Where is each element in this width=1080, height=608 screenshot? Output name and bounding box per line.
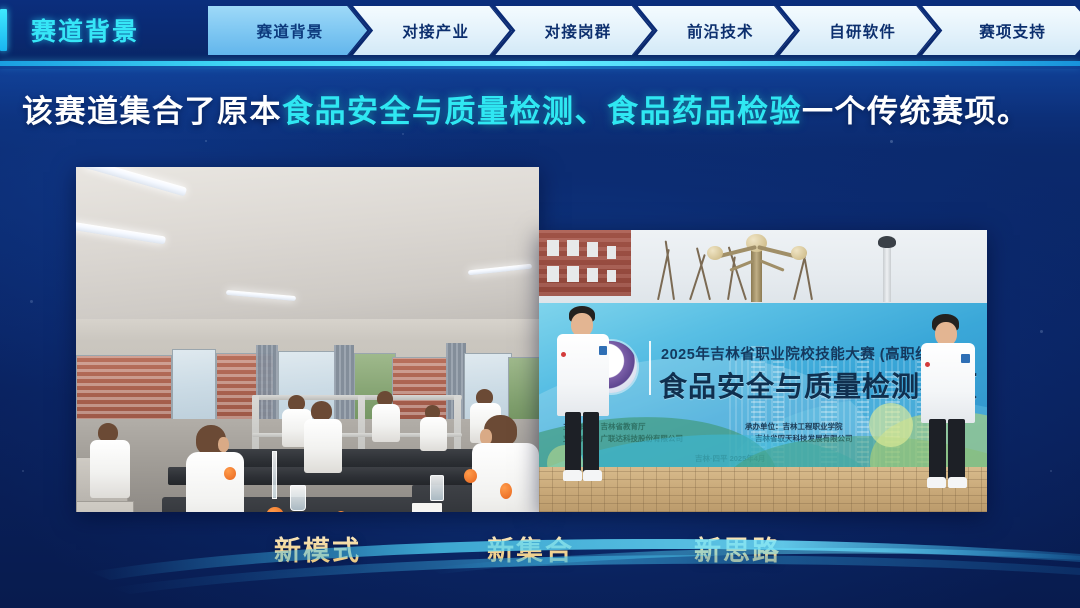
burette-stand — [272, 451, 277, 499]
photo-laboratory — [76, 167, 539, 512]
page-title: 赛道背景 — [31, 12, 139, 48]
keyword-new-thought: 新思路 — [694, 529, 781, 568]
badge-icon — [925, 362, 930, 367]
organizer-undertaker: 承办单位：吉林工程职业学院 — [745, 421, 843, 432]
top-navigation-bar: 赛道背景 赛道背景 对接产业 对接岗群 前沿技术 自研软件 — [0, 0, 1080, 61]
lab-worksheet — [412, 503, 442, 512]
tab-label: 赛道背景 — [257, 20, 324, 42]
banner-subtitle: 2025年吉林省职业院校技能大赛 (高职组) — [661, 343, 935, 364]
building-window — [607, 270, 616, 282]
keyword-new-model: 新模式 — [274, 529, 361, 568]
headline-part1: 该赛道集合了原本 — [22, 94, 282, 129]
headline-part2: 一个传统赛项。 — [802, 94, 1030, 129]
orange-funnel — [500, 483, 512, 499]
building-window — [587, 242, 598, 257]
keyword-new-set: 新集合 — [487, 529, 574, 568]
graduated-cylinder — [430, 475, 444, 501]
coat-logo — [961, 354, 970, 363]
security-camera-icon — [878, 236, 896, 248]
trousers — [948, 419, 965, 481]
tab-label: 对接产业 — [402, 20, 469, 42]
building-window — [607, 246, 616, 259]
coat-logo — [599, 346, 607, 355]
headline-separator: 、 — [575, 94, 608, 129]
tab-label: 赛项支持 — [979, 20, 1046, 42]
lab-ceiling — [76, 167, 539, 329]
headline-highlight-2: 食品药品检验 — [607, 94, 802, 129]
paved-ground — [539, 467, 987, 512]
shoe — [583, 470, 602, 481]
building-window — [567, 266, 579, 282]
lab-cabinet — [76, 501, 134, 512]
tab-ziyan-ruanjian[interactable]: 自研软件 — [780, 6, 939, 55]
badge-icon — [561, 352, 566, 357]
tab-saixiang-zhichi[interactable]: 赛项支持 — [922, 6, 1080, 55]
trousers — [929, 419, 946, 481]
tab-label: 自研软件 — [829, 20, 896, 42]
tab-qianyan-jishu[interactable]: 前沿技术 — [638, 6, 797, 55]
building-window — [587, 268, 598, 282]
building-window — [567, 240, 579, 256]
lamp-post — [751, 244, 762, 302]
headline-text: 该赛道集合了原本食品安全与质量检测、食品药品检验一个传统赛项。 — [22, 86, 1062, 131]
orange-funnel — [464, 469, 477, 483]
building-window — [547, 266, 559, 282]
shoe — [563, 470, 582, 481]
lamp-globe — [791, 246, 807, 260]
beaker — [290, 485, 306, 511]
trousers — [583, 412, 599, 474]
tab-label: 对接岗群 — [545, 20, 612, 42]
orange-funnel — [224, 467, 236, 480]
photo-competition-stage: 2025年吉林省职业院校技能大赛 (高职组) 食品安全与质量检测赛项 主办单位：… — [539, 230, 987, 512]
tab-label: 前沿技术 — [687, 20, 754, 42]
nav-accent-bar — [0, 9, 7, 51]
lamp-globe — [707, 246, 723, 260]
title-divider — [649, 341, 651, 395]
chevron-tab-strip: 赛道背景 对接产业 对接岗群 前沿技术 自研软件 赛项支持 — [208, 6, 1080, 55]
trousers — [565, 412, 581, 474]
headline-highlight-1: 食品安全与质量检测 — [282, 94, 575, 129]
shoe — [948, 477, 967, 488]
shoe — [927, 477, 946, 488]
tab-duijie-gangqun[interactable]: 对接岗群 — [495, 6, 654, 55]
backdrop-glow-circle — [869, 403, 913, 447]
bench-shelf-frame — [252, 395, 462, 400]
tab-saidao-beijing[interactable]: 赛道背景 — [208, 6, 370, 55]
building-window — [547, 240, 559, 256]
tab-duijie-chanye[interactable]: 对接产业 — [353, 6, 512, 55]
slide-root: 赛道背景 赛道背景 对接产业 对接岗群 前沿技术 自研软件 — [0, 0, 1080, 608]
camera-pole — [883, 242, 891, 302]
